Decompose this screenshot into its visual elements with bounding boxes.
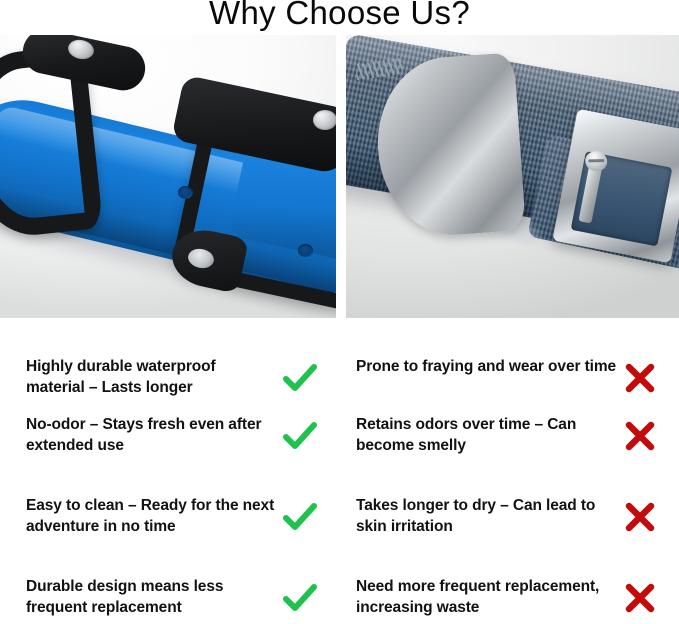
con-cell: Takes longer to dry – Can lead to skin i… xyxy=(356,495,656,559)
comparison-row: Durable design means less frequent repla… xyxy=(0,576,679,624)
comparison-row: Highly durable waterproof material – Las… xyxy=(0,356,679,420)
cross-icon xyxy=(620,416,660,456)
cross-icon xyxy=(620,578,660,618)
con-text: Need more frequent replacement, increasi… xyxy=(356,576,618,618)
pro-cell: No-odor – Stays fresh even after extende… xyxy=(26,414,326,478)
comparison-row: Easy to clean – Ready for the next adven… xyxy=(0,495,679,559)
pro-text: Highly durable waterproof material – Las… xyxy=(26,356,276,398)
page-header: Why Choose Us? xyxy=(0,0,679,33)
strap-hole-left xyxy=(178,186,193,199)
con-text: Takes longer to dry – Can lead to skin i… xyxy=(356,495,618,537)
worn-blue-nylon-collar-photo xyxy=(346,35,679,318)
cross-icon xyxy=(620,358,660,398)
blue-waterproof-silicone-collar-photo xyxy=(0,35,336,318)
page-title: Why Choose Us? xyxy=(0,0,679,33)
metal-rivet-right xyxy=(313,110,336,130)
check-icon xyxy=(280,578,320,618)
con-cell: Prone to fraying and wear over time xyxy=(356,356,656,420)
strap-hole-right xyxy=(298,244,313,257)
con-cell: Retains odors over time – Can become sme… xyxy=(356,414,656,478)
comparison-table: Highly durable waterproof material – Las… xyxy=(0,318,679,624)
check-icon xyxy=(280,416,320,456)
con-cell: Need more frequent replacement, increasi… xyxy=(356,576,656,624)
cross-icon xyxy=(620,497,660,537)
check-icon xyxy=(280,497,320,537)
photo-comparison-band xyxy=(0,35,679,318)
pro-text: Durable design means less frequent repla… xyxy=(26,576,276,618)
con-text: Retains odors over time – Can become sme… xyxy=(356,414,618,456)
comparison-row: No-odor – Stays fresh even after extende… xyxy=(0,414,679,478)
pro-text: Easy to clean – Ready for the next adven… xyxy=(26,495,276,537)
pro-cell: Easy to clean – Ready for the next adven… xyxy=(26,495,326,559)
check-icon xyxy=(280,358,320,398)
pro-cell: Durable design means less frequent repla… xyxy=(26,576,326,624)
pro-text: No-odor – Stays fresh even after extende… xyxy=(26,414,276,456)
pro-cell: Highly durable waterproof material – Las… xyxy=(26,356,326,420)
con-text: Prone to fraying and wear over time xyxy=(356,356,618,377)
